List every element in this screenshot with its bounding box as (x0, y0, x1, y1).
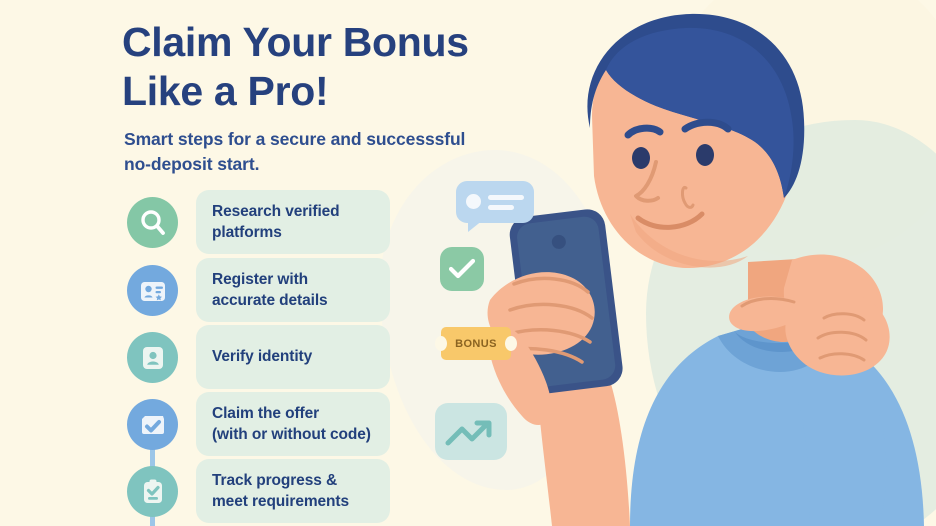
subhead-line-1: Smart steps for a secure and successsful (124, 127, 524, 152)
step-label-4: Claim the offer (with or without code) (196, 392, 390, 456)
bonus-ticket-label: BONUS (455, 338, 497, 350)
step-4-line-1: Claim the offer (212, 403, 376, 424)
step-2-line-1: Register with (212, 269, 376, 290)
id-card-icon (127, 265, 178, 316)
step-label-3: Verify identity (196, 325, 390, 389)
step-4-line-2: (with or without code) (212, 424, 376, 445)
trending-up-icon (435, 403, 507, 460)
headline-line-2: Like a Pro! (122, 67, 552, 116)
chat-bubble-dot (466, 194, 481, 209)
step-label-5: Track progress & meet requirements (196, 459, 390, 523)
step-item-3[interactable]: Verify identity (0, 332, 420, 384)
search-icon (127, 197, 178, 248)
step-item-5[interactable]: Track progress & meet requirements (0, 466, 420, 518)
step-item-4[interactable]: Claim the offer (with or without code) (0, 399, 420, 451)
chat-bubble-line-2 (488, 205, 514, 210)
step-label-2: Register with accurate details (196, 258, 390, 322)
step-label-1: Research verified platforms (196, 190, 390, 254)
step-item-1[interactable]: Research verified platforms (0, 197, 420, 249)
clipboard-check-icon (127, 466, 178, 517)
step-1-line-1: Research verified (212, 201, 376, 222)
page-subtitle: Smart steps for a secure and successsful… (124, 127, 524, 177)
steps-list: Research verified platforms Register wit… (0, 190, 420, 520)
step-2-line-2: accurate details (212, 290, 376, 311)
checkbox-icon (127, 399, 178, 450)
headline-line-1: Claim Your Bonus (122, 18, 552, 67)
step-5-line-2: meet requirements (212, 491, 376, 512)
step-item-2[interactable]: Register with accurate details (0, 265, 420, 317)
chat-bubble-icon (456, 181, 534, 223)
infographic-canvas: Claim Your Bonus Like a Pro! Smart steps… (0, 0, 936, 526)
page-title: Claim Your Bonus Like a Pro! (122, 18, 552, 116)
chat-bubble-line-1 (488, 195, 524, 200)
check-badge-icon (440, 247, 484, 291)
step-1-line-2: platforms (212, 222, 376, 243)
user-badge-icon (127, 332, 178, 383)
step-3-line-1: Verify identity (212, 346, 312, 367)
subhead-line-2: no-deposit start. (124, 152, 524, 177)
bonus-ticket-icon: BONUS (441, 327, 511, 360)
step-5-line-1: Track progress & (212, 470, 376, 491)
